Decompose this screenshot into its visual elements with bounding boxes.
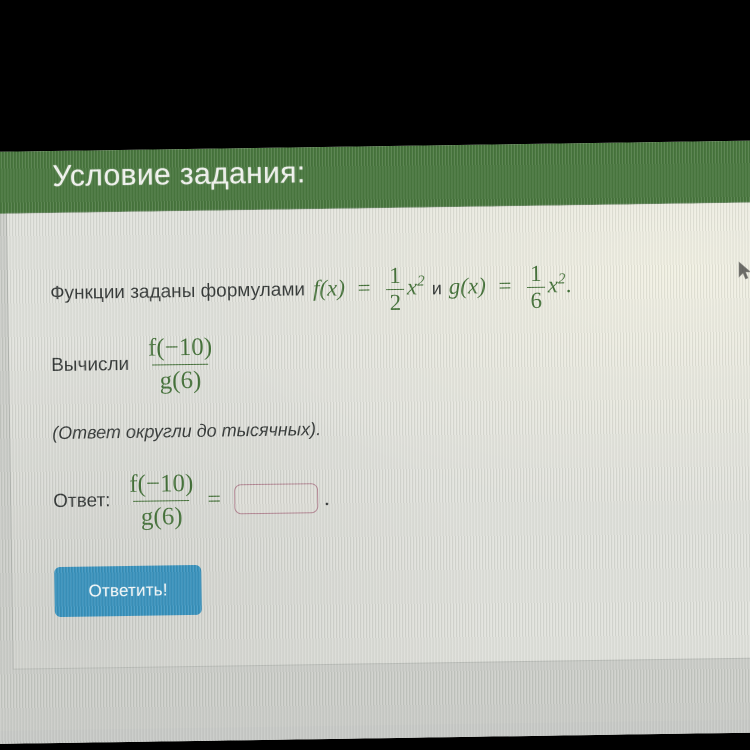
function-g-coefficient-fraction: 1 6 [527, 262, 545, 313]
answer-label: Ответ: [53, 491, 111, 514]
task-header-band: Условие задания: [0, 140, 750, 214]
task-content: Функции заданы формулами f(x) = 1 2 x2 и [7, 202, 750, 617]
function-g-numerator: 1 [527, 262, 545, 287]
answer-input[interactable] [234, 483, 318, 514]
function-f-name: f(x) [313, 275, 345, 300]
page-body: Функции заданы формулами f(x) = 1 2 x2 и [0, 202, 750, 744]
answer-period: . [324, 485, 330, 511]
answer-expression-numerator: f(−10) [122, 470, 201, 501]
function-g-denominator: 6 [527, 287, 545, 313]
compute-label: Вычисли [51, 354, 129, 377]
function-g-name: g(x) [449, 273, 486, 299]
submit-answer-button[interactable]: Ответить! [54, 565, 202, 617]
compute-instruction-line: Вычисли f(−10) g(6) [51, 325, 750, 397]
compute-expression-numerator: f(−10) [141, 333, 220, 364]
rounding-note: (Ответ округли до тысячных). [52, 412, 750, 444]
function-f-exponent: 2 [417, 273, 425, 290]
function-g-period: . [565, 272, 571, 297]
function-g-equals: = [498, 273, 511, 298]
function-f-denominator: 2 [386, 289, 404, 315]
answer-row: Ответ: f(−10) g(6) = . [53, 461, 750, 533]
photographed-screen: Условие задания: Функции заданы формулам… [0, 0, 750, 750]
browser-screen: Условие задания: Функции заданы формулам… [0, 140, 750, 744]
compute-expression-fraction: f(−10) g(6) [141, 333, 220, 395]
function-f-expression: f(x) = 1 2 x2 [313, 264, 425, 316]
function-f-variable: x [407, 274, 418, 299]
answer-equals-sign: = [207, 486, 221, 513]
function-g-expression: g(x) = 1 6 x2. [448, 261, 571, 314]
functions-definition-line: Функции заданы формулами f(x) = 1 2 x2 и [50, 258, 750, 319]
page-footer-area [0, 719, 750, 744]
answer-expression-denominator: g(6) [134, 500, 190, 532]
function-f-numerator: 1 [386, 264, 404, 289]
compute-expression-denominator: g(6) [152, 364, 208, 396]
task-card: Функции заданы формулами f(x) = 1 2 x2 и [7, 202, 750, 668]
function-g-variable: x [548, 272, 559, 297]
conjunction-text: и [432, 278, 442, 299]
functions-intro-text: Функции заданы формулами [50, 280, 305, 306]
function-f-equals: = [357, 275, 370, 300]
answer-expression-fraction: f(−10) g(6) [122, 470, 201, 532]
function-f-coefficient-fraction: 1 2 [386, 264, 404, 315]
page-title: Условие задания: [52, 156, 306, 194]
